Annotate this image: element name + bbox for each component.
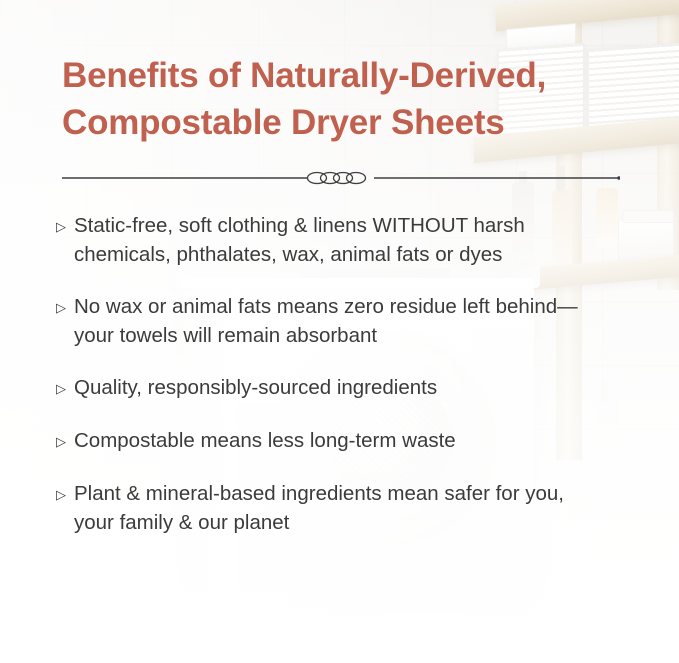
triangle-bullet-icon: ▷ bbox=[56, 293, 74, 322]
list-item: ▷ Compostable means less long-term waste bbox=[56, 427, 636, 456]
list-item: ▷ No wax or animal fats means zero resid… bbox=[56, 293, 636, 350]
list-item: ▷ Quality, responsibly-sourced ingredien… bbox=[56, 374, 636, 403]
list-item-text: Plant & mineral-based ingredients mean s… bbox=[74, 480, 594, 537]
list-item-text: No wax or animal fats means zero residue… bbox=[74, 293, 594, 350]
list-item: ▷ Static-free, soft clothing & linens WI… bbox=[56, 212, 636, 269]
poster-content: Benefits of Naturally-Derived, Compostab… bbox=[0, 0, 679, 663]
promotional-poster: Benefits of Naturally-Derived, Compostab… bbox=[0, 0, 679, 663]
title-line-1: Benefits of Naturally-Derived, bbox=[62, 52, 622, 99]
title-line-2: Compostable Dryer Sheets bbox=[62, 99, 622, 146]
page-title: Benefits of Naturally-Derived, Compostab… bbox=[62, 52, 622, 146]
triangle-bullet-icon: ▷ bbox=[56, 212, 74, 241]
list-item: ▷ Plant & mineral-based ingredients mean… bbox=[56, 480, 636, 537]
benefits-list: ▷ Static-free, soft clothing & linens WI… bbox=[56, 212, 636, 537]
coiled-rope-ornament bbox=[308, 173, 366, 184]
list-item-text: Quality, responsibly-sourced ingredients bbox=[74, 374, 594, 403]
triangle-bullet-icon: ▷ bbox=[56, 374, 74, 403]
triangle-bullet-icon: ▷ bbox=[56, 427, 74, 456]
decorative-divider bbox=[62, 168, 620, 188]
list-item-text: Compostable means less long-term waste bbox=[74, 427, 594, 456]
list-item-text: Static-free, soft clothing & linens WITH… bbox=[74, 212, 594, 269]
triangle-bullet-icon: ▷ bbox=[56, 480, 74, 509]
